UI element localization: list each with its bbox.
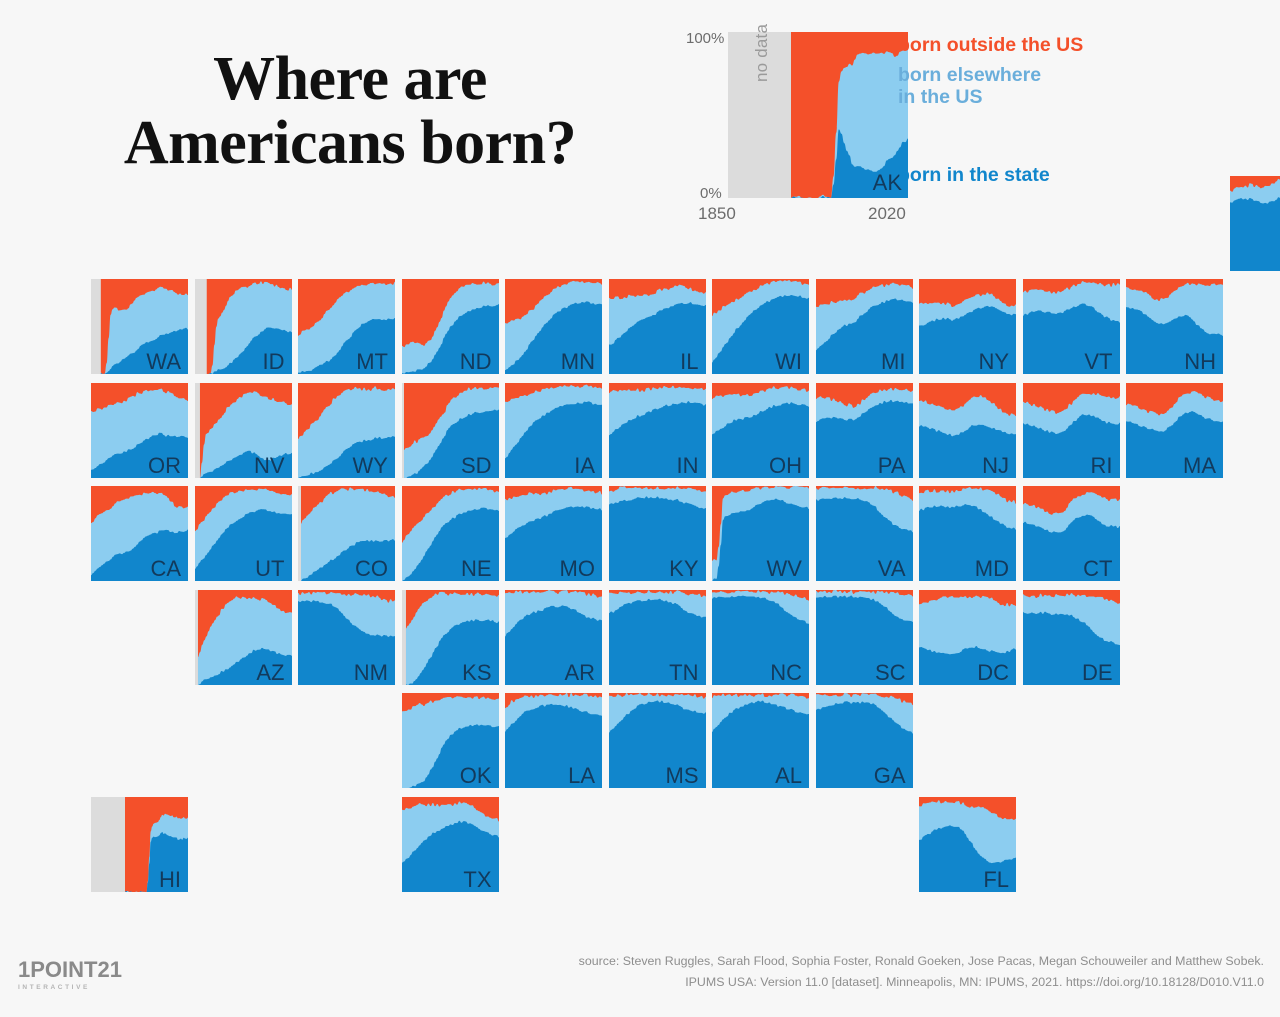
state-area-chart	[91, 383, 188, 478]
state-tile-az[interactable]: AZ	[195, 590, 292, 685]
state-tile-sc[interactable]: SC	[816, 590, 913, 685]
logo-text: 1POINT21	[18, 957, 122, 983]
state-tile-ky[interactable]: KY	[609, 486, 706, 581]
state-tile-ar[interactable]: AR	[505, 590, 602, 685]
state-tile-id[interactable]: ID	[195, 279, 292, 374]
state-area-chart	[505, 279, 602, 374]
state-area-chart	[712, 383, 809, 478]
state-area-chart	[298, 383, 395, 478]
state-tile-md[interactable]: MD	[919, 486, 1016, 581]
state-tile-hi[interactable]: HI	[91, 797, 188, 892]
state-tile-ca[interactable]: CA	[91, 486, 188, 581]
state-tile-ma[interactable]: MA	[1126, 383, 1223, 478]
legend: no data AK 100% 0% 1850 2020 born outsid…	[700, 26, 1260, 236]
state-area-chart	[195, 383, 292, 478]
state-area-chart	[402, 797, 499, 892]
state-area-chart	[402, 486, 499, 581]
state-tile-tx[interactable]: TX	[402, 797, 499, 892]
state-area-chart	[1230, 176, 1280, 271]
legend-item-born-in-state: born in the state	[898, 164, 1050, 186]
state-area-chart	[816, 383, 913, 478]
state-area-chart	[609, 279, 706, 374]
title-line-1: Where are	[213, 45, 487, 113]
state-area-chart	[712, 486, 809, 581]
state-area-chart	[1126, 383, 1223, 478]
state-tile-dc[interactable]: DC	[919, 590, 1016, 685]
source-line-2: IPUMS USA: Version 11.0 [dataset]. Minne…	[579, 972, 1264, 993]
state-area-chart	[609, 693, 706, 788]
state-area-chart	[195, 279, 292, 374]
state-tile-ks[interactable]: KS	[402, 590, 499, 685]
state-area-chart	[505, 486, 602, 581]
state-area-chart	[505, 590, 602, 685]
state-tile-mi[interactable]: MI	[816, 279, 913, 374]
state-area-chart	[919, 590, 1016, 685]
state-area-chart	[919, 383, 1016, 478]
state-tile-wy[interactable]: WY	[298, 383, 395, 478]
state-tile-co[interactable]: CO	[298, 486, 395, 581]
legend-item-born-outside-us: born outside the US	[898, 34, 1083, 56]
state-area-chart	[402, 590, 499, 685]
state-tile-ga[interactable]: GA	[816, 693, 913, 788]
state-area-chart	[91, 797, 188, 892]
state-area-chart	[919, 797, 1016, 892]
legend-elsewhere-line-1: born elsewhere	[898, 64, 1041, 86]
source-line-1: source: Steven Ruggles, Sarah Flood, Sop…	[579, 951, 1264, 972]
state-area-chart	[1126, 279, 1223, 374]
brand-logo: 1POINT21 INTERACTIVE	[18, 957, 122, 991]
axis-label-x-end: 2020	[868, 204, 906, 224]
state-tile-pa[interactable]: PA	[816, 383, 913, 478]
state-tile-il[interactable]: IL	[609, 279, 706, 374]
state-tile-ne[interactable]: NE	[402, 486, 499, 581]
axis-label-y-max: 100%	[686, 30, 724, 47]
state-tile-al[interactable]: AL	[712, 693, 809, 788]
state-tile-oh[interactable]: OH	[712, 383, 809, 478]
state-tile-mn[interactable]: MN	[505, 279, 602, 374]
state-area-chart	[1023, 279, 1120, 374]
state-area-chart	[402, 383, 499, 478]
state-area-chart	[505, 693, 602, 788]
state-area-chart	[195, 486, 292, 581]
state-tile-ri[interactable]: RI	[1023, 383, 1120, 478]
state-area-chart	[609, 486, 706, 581]
state-tile-in[interactable]: IN	[609, 383, 706, 478]
state-tile-mt[interactable]: MT	[298, 279, 395, 374]
state-tile-vt[interactable]: VT	[1023, 279, 1120, 374]
state-tile-nh[interactable]: NH	[1126, 279, 1223, 374]
state-area-chart	[1023, 590, 1120, 685]
state-area-chart	[298, 590, 395, 685]
state-grid: WAIDMTNDMNILWIMINYVTNHMEORNVWYSDIAINOHPA…	[91, 279, 1251, 909]
state-area-chart	[91, 279, 188, 374]
state-area-chart	[609, 590, 706, 685]
legend-item-born-elsewhere-us: born elsewhere in the US	[898, 64, 1041, 108]
legend-elsewhere-line-2: in the US	[898, 86, 1041, 108]
state-area-chart	[919, 279, 1016, 374]
state-tile-nv[interactable]: NV	[195, 383, 292, 478]
state-area-chart	[1023, 486, 1120, 581]
state-tile-de[interactable]: DE	[1023, 590, 1120, 685]
state-tile-mo[interactable]: MO	[505, 486, 602, 581]
state-tile-sd[interactable]: SD	[402, 383, 499, 478]
page-title: Where are Americans born?	[0, 48, 700, 176]
state-area-chart	[1023, 383, 1120, 478]
state-tile-wi[interactable]: WI	[712, 279, 809, 374]
title-line-2: Americans born?	[0, 112, 700, 176]
state-area-chart	[298, 279, 395, 374]
state-tile-ct[interactable]: CT	[1023, 486, 1120, 581]
state-tile-nj[interactable]: NJ	[919, 383, 1016, 478]
state-tile-la[interactable]: LA	[505, 693, 602, 788]
state-tile-or[interactable]: OR	[91, 383, 188, 478]
state-tile-ut[interactable]: UT	[195, 486, 292, 581]
state-area-chart	[712, 279, 809, 374]
state-tile-tn[interactable]: TN	[609, 590, 706, 685]
state-tile-nm[interactable]: NM	[298, 590, 395, 685]
state-area-chart	[402, 279, 499, 374]
state-tile-me[interactable]: ME	[1230, 176, 1280, 271]
no-data-label: no data	[752, 24, 772, 82]
state-area-chart	[712, 693, 809, 788]
state-area-chart	[402, 693, 499, 788]
state-area-chart	[816, 279, 913, 374]
state-area-chart	[816, 590, 913, 685]
state-area-chart	[816, 693, 913, 788]
state-tile-ms[interactable]: MS	[609, 693, 706, 788]
state-area-chart	[298, 486, 395, 581]
state-tile-wv[interactable]: WV	[712, 486, 809, 581]
state-area-chart	[609, 383, 706, 478]
state-area-chart	[195, 590, 292, 685]
state-tile-nc[interactable]: NC	[712, 590, 809, 685]
state-tile-va[interactable]: VA	[816, 486, 913, 581]
state-tile-ia[interactable]: IA	[505, 383, 602, 478]
state-tile-ny[interactable]: NY	[919, 279, 1016, 374]
state-tile-fl[interactable]: FL	[919, 797, 1016, 892]
logo-subtitle: INTERACTIVE	[18, 984, 122, 991]
state-area-chart	[91, 486, 188, 581]
state-tile-nd[interactable]: ND	[402, 279, 499, 374]
state-area-chart	[816, 486, 913, 581]
state-tile-wa[interactable]: WA	[91, 279, 188, 374]
state-area-chart	[919, 486, 1016, 581]
state-area-chart	[712, 590, 809, 685]
state-tile-ok[interactable]: OK	[402, 693, 499, 788]
state-area-chart	[505, 383, 602, 478]
axis-label-x-start: 1850	[698, 204, 736, 224]
axis-label-y-min: 0%	[700, 185, 722, 202]
legend-example-chart: no data AK 100% 0% 1850 2020	[728, 32, 908, 198]
source-citation: source: Steven Ruggles, Sarah Flood, Sop…	[579, 951, 1264, 993]
